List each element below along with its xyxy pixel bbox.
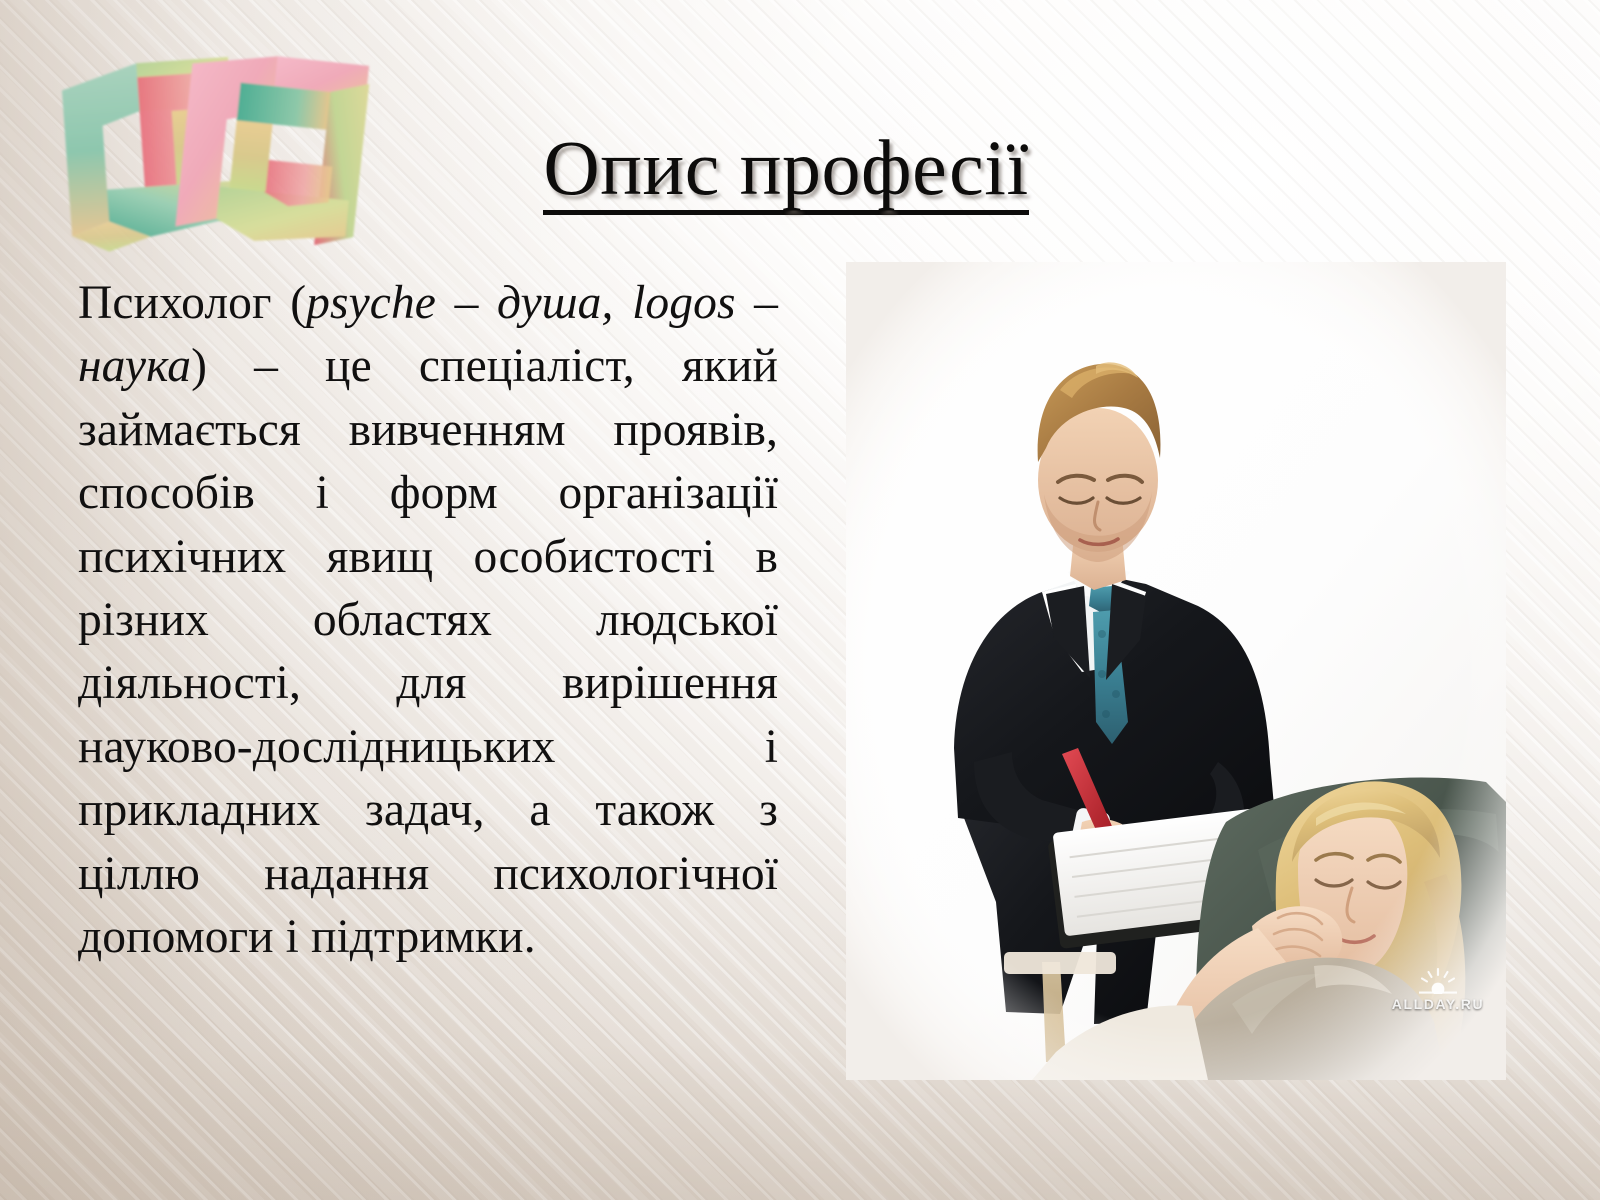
paragraph-lead: Психолог ( bbox=[78, 277, 306, 329]
therapy-session-photo: ALLDAY.RU bbox=[846, 262, 1506, 1080]
page-title-text: Опис професії bbox=[543, 128, 1028, 215]
interlocking-squares-logo-icon bbox=[24, 28, 386, 260]
description-paragraph: Психолог (psyche – душа, logos – наука) … bbox=[78, 272, 778, 969]
paragraph-rest: ) – це спеціаліст, який займається вивче… bbox=[78, 340, 778, 963]
slide: Опис професії Психолог (psyche – душа, l… bbox=[0, 0, 1600, 1200]
page-title: Опис професії bbox=[436, 128, 1136, 215]
